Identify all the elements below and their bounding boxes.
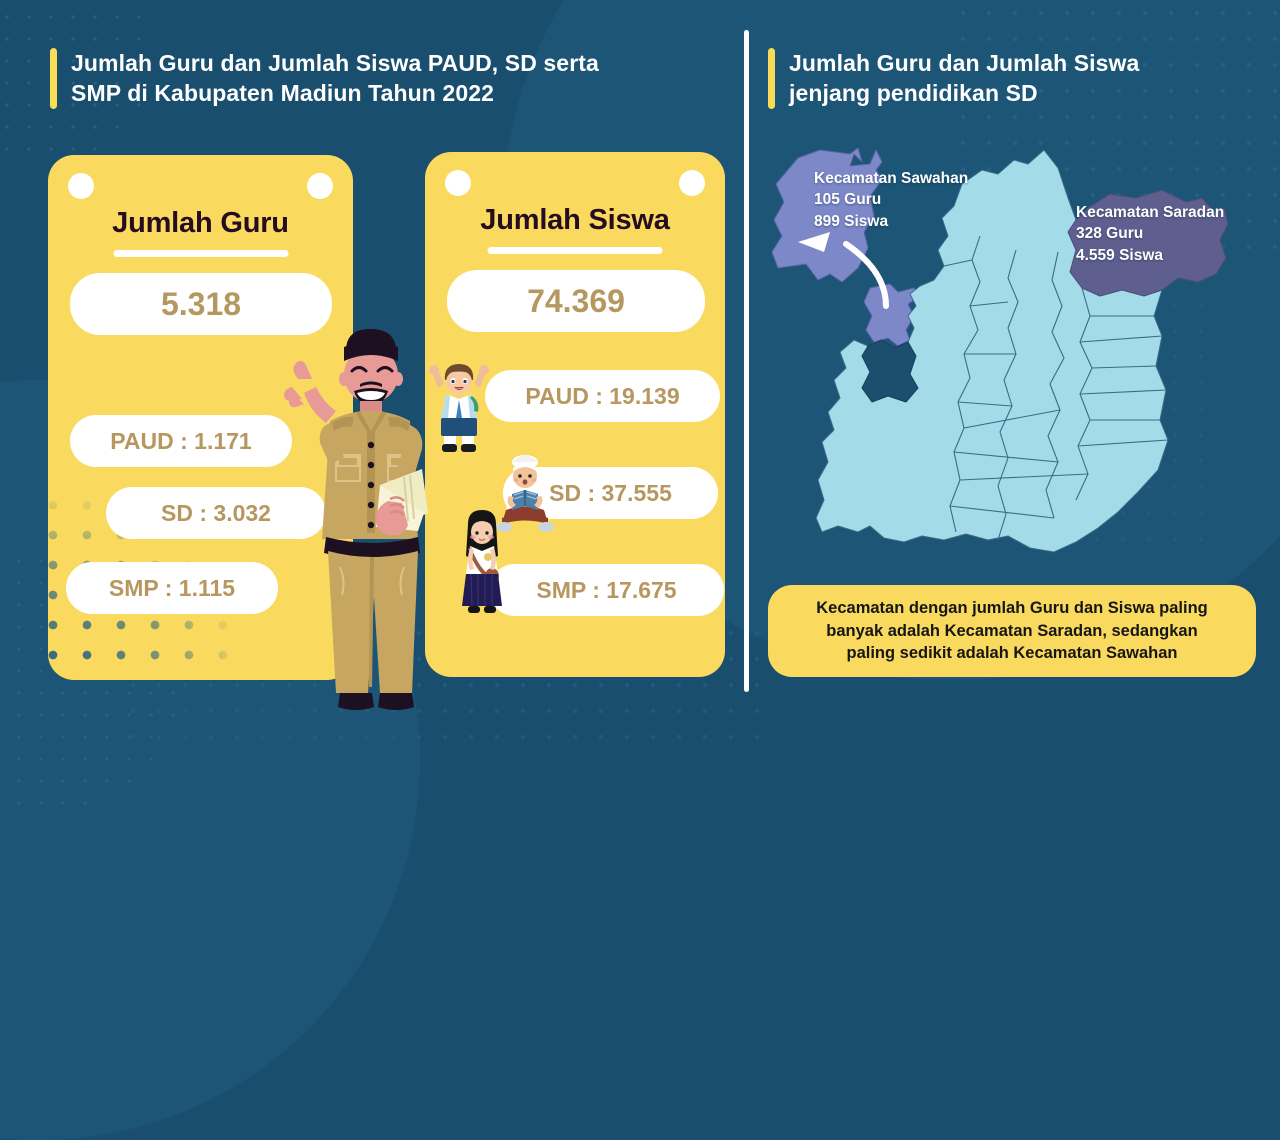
infographic-canvas: Jumlah Guru dan Jumlah Siswa PAUD, SD se… (0, 0, 1280, 720)
callout-box: Kecamatan dengan jumlah Guru dan Siswa p… (768, 585, 1256, 677)
siswa-total-value: 74.369 (447, 270, 705, 332)
guru-paud-item: PAUD : 1.171 (70, 415, 292, 467)
left-panel-title: Jumlah Guru dan Jumlah Siswa PAUD, SD se… (50, 48, 710, 109)
right-title-text: Jumlah Guru dan Jumlah Siswa jenjang pen… (789, 48, 1139, 109)
card-pin-hole-left (68, 173, 94, 199)
siswa-paud-item: PAUD : 19.139 (485, 370, 720, 422)
card-pin-hole-right (679, 170, 705, 196)
card-title: Jumlah Siswa (425, 204, 725, 237)
map-region-dark (862, 340, 918, 402)
card-title: Jumlah Guru (48, 207, 353, 240)
teacher-illustration (268, 305, 468, 720)
card-pin-hole-right (307, 173, 333, 199)
title-accent-bar (50, 48, 57, 109)
panel-divider (744, 30, 749, 692)
right-panel-title: Jumlah Guru dan Jumlah Siswa jenjang pen… (768, 48, 1238, 109)
title-accent-bar (768, 48, 775, 109)
guru-smp-item: SMP : 1.115 (66, 562, 278, 614)
siswa-smp-item: SMP : 17.675 (489, 564, 724, 616)
left-title-text: Jumlah Guru dan Jumlah Siswa PAUD, SD se… (71, 48, 599, 109)
card-title-underline (113, 250, 288, 257)
map-kabupaten-madiun: Kecamatan Sawahan 105 Guru 899 Siswa Kec… (758, 140, 1263, 575)
card-pin-hole-left (445, 170, 471, 196)
card-title-underline (488, 247, 663, 254)
map-label-sawahan: Kecamatan Sawahan 105 Guru 899 Siswa (814, 168, 968, 232)
map-label-saradan: Kecamatan Saradan 328 Guru 4.559 Siswa (1076, 202, 1224, 266)
callout-text: Kecamatan dengan jumlah Guru dan Siswa p… (816, 597, 1208, 665)
